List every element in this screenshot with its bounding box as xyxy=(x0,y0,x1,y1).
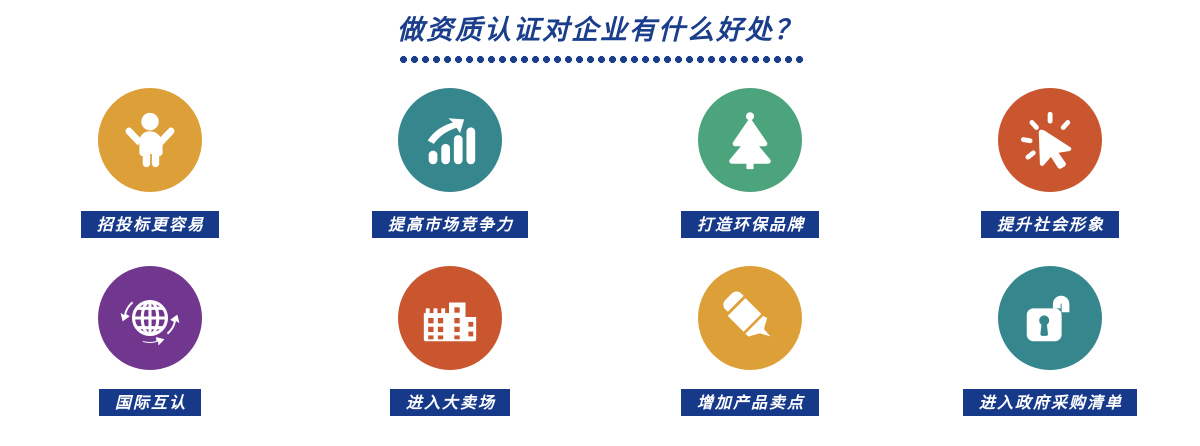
benefit-item[interactable]: 国际互认 xyxy=(0,266,300,444)
benefit-label: 进入大卖场 xyxy=(390,389,510,416)
benefit-item[interactable]: 打造环保品牌 xyxy=(600,88,900,266)
icon-circle xyxy=(398,266,502,370)
icon-circle xyxy=(98,88,202,192)
icon-circle xyxy=(998,266,1102,370)
icon-circle xyxy=(698,266,802,370)
benefits-row-2: 国际互认 xyxy=(0,266,1200,444)
benefit-label: 提高市场竞争力 xyxy=(372,211,528,238)
benefit-item[interactable]: 提高市场竞争力 xyxy=(300,88,600,266)
globe-rotating-icon xyxy=(119,287,181,349)
title-block: 做资质认证对企业有什么好处？ xyxy=(0,14,1200,63)
factory-building-icon xyxy=(419,287,481,349)
benefits-row-1: 招投标更容易 xyxy=(0,88,1200,266)
benefit-label: 增加产品卖点 xyxy=(681,389,819,416)
benefit-item[interactable]: 进入大卖场 xyxy=(300,266,600,444)
icon-circle xyxy=(998,88,1102,192)
benefit-label: 打造环保品牌 xyxy=(681,211,819,238)
benefit-item[interactable]: 进入政府采购清单 xyxy=(900,266,1200,444)
open-padlock-icon xyxy=(1019,287,1081,349)
icon-circle xyxy=(698,88,802,192)
benefit-item[interactable]: 增加产品卖点 xyxy=(600,266,900,444)
benefit-item[interactable]: 提升社会形象 xyxy=(900,88,1200,266)
benefit-label: 进入政府采购清单 xyxy=(963,389,1137,416)
page-title: 做资质认证对企业有什么好处？ xyxy=(0,14,1200,48)
growth-bar-chart-icon xyxy=(419,109,481,171)
pine-tree-icon xyxy=(719,109,781,171)
infographic-root: 做资质认证对企业有什么好处？ xyxy=(0,0,1200,446)
icon-circle xyxy=(98,266,202,370)
benefit-label: 国际互认 xyxy=(99,389,201,416)
person-cheering-icon xyxy=(119,109,181,171)
icon-circle xyxy=(398,88,502,192)
pencil-icon xyxy=(719,287,781,349)
cursor-click-icon xyxy=(1019,109,1081,171)
benefit-item[interactable]: 招投标更容易 xyxy=(0,88,300,266)
benefit-label: 招投标更容易 xyxy=(81,211,219,238)
benefits-grid: 招投标更容易 xyxy=(0,88,1200,444)
benefit-label: 提升社会形象 xyxy=(981,211,1119,238)
dotted-divider xyxy=(398,56,803,63)
